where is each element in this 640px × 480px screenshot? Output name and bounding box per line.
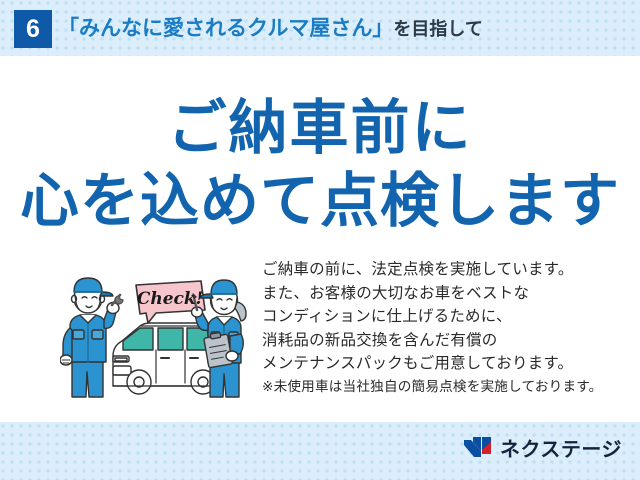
mechanics-illustration: Check! bbox=[60, 268, 252, 400]
body-copy: ご納車の前に、法定点検を実施しています。 また、お客様の大切なお車をベストな コ… bbox=[262, 258, 624, 398]
body-line: ご納車の前に、法定点検を実施しています。 bbox=[262, 258, 624, 282]
body-line: コンディションに仕上げるために、 bbox=[262, 305, 624, 329]
nextage-logo-text: ネクステージ bbox=[500, 433, 622, 462]
nextage-n-mark-icon bbox=[463, 436, 493, 458]
nextage-logo: ネクステージ bbox=[463, 434, 622, 460]
header-title-tail: を目指して bbox=[393, 19, 482, 39]
check-label: Check! bbox=[137, 289, 203, 309]
headline-line-2: 心を込めて点検します bbox=[0, 168, 640, 234]
promo-banner: 6 「みんなに愛されるクルマ屋さん」を目指して ご納車前に 心を込めて点検します… bbox=[0, 0, 640, 480]
header-title: 「みんなに愛されるクルマ屋さん」を目指して bbox=[58, 13, 483, 45]
header-title-quoted: 「みんなに愛されるクルマ屋さん」 bbox=[58, 17, 393, 40]
body-line: メンテナンスパックもご用意しております。 bbox=[262, 352, 624, 376]
header: 6 「みんなに愛されるクルマ屋さん」を目指して bbox=[0, 0, 640, 58]
body-line: また、お客様の大切なお車をベストな bbox=[262, 282, 624, 306]
van-illustration bbox=[113, 323, 220, 394]
footer: ネクステージ bbox=[0, 422, 640, 480]
body-line: 消耗品の新品交換を含んだ有償の bbox=[262, 329, 624, 353]
section-number-badge: 6 bbox=[14, 10, 52, 48]
body-note: ※未使用車は当社独自の簡易点検を実施しております。 bbox=[262, 376, 624, 398]
headline-line-1: ご納車前に bbox=[0, 95, 640, 161]
